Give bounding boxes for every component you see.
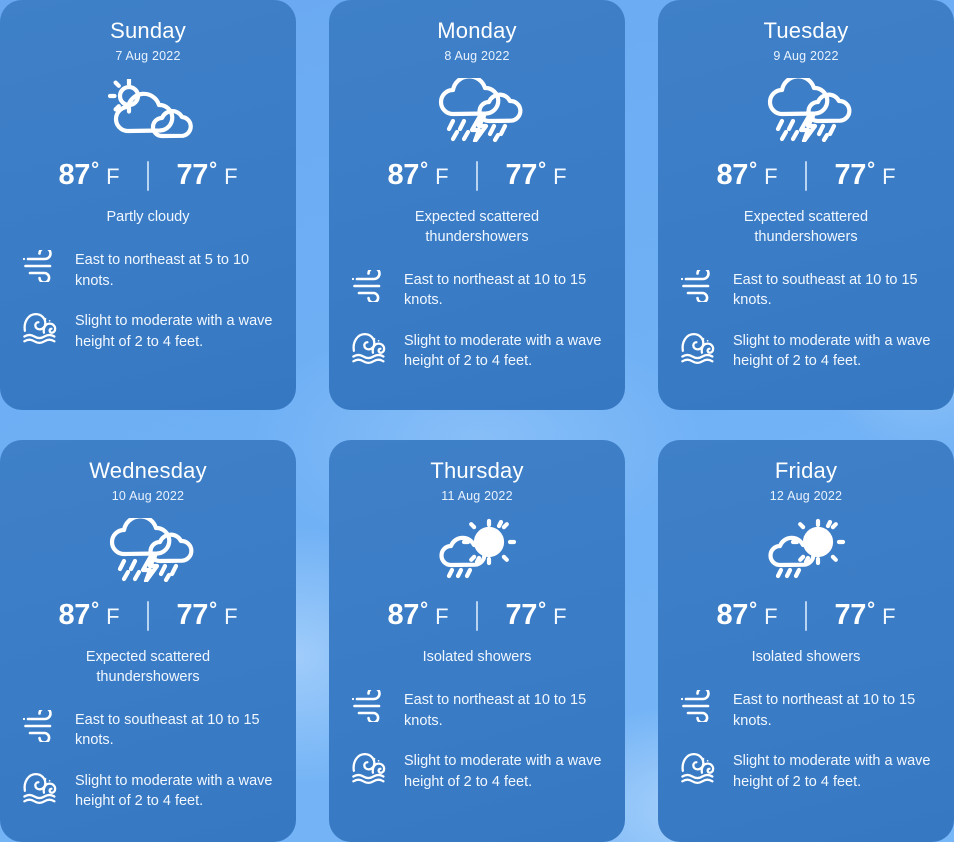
low-temp-value: 77 — [176, 159, 208, 192]
sun-showers-icon — [760, 519, 852, 581]
high-temp-unit: F — [435, 604, 448, 630]
low-temp-unit: F — [882, 604, 895, 630]
thunderstorm-icon — [431, 79, 523, 141]
forecast-card[interactable]: Monday 8 Aug 2022 87°F 77°F — [329, 0, 625, 410]
degree-symbol: ° — [749, 599, 757, 622]
high-temp-value: 87 — [716, 599, 748, 632]
wind-icon — [22, 709, 62, 743]
day-name: Thursday — [430, 458, 523, 484]
high-temp-unit: F — [106, 604, 119, 630]
wave-detail-row: Slight to moderate with a wave height of… — [351, 749, 603, 792]
low-temp-value: 77 — [834, 159, 866, 192]
detail-list: East to southeast at 10 to 15 knots. Sli… — [680, 268, 932, 372]
sun-showers-icon — [431, 519, 523, 581]
temperature-row: 87°F 77°F — [22, 159, 274, 192]
detail-list: East to northeast at 5 to 10 knots. Slig… — [22, 248, 274, 352]
wave-detail-row: Slight to moderate with a wave height of… — [680, 329, 932, 372]
forecast-card[interactable]: Tuesday 9 Aug 2022 87°F 77°F — [658, 0, 954, 410]
degree-symbol: ° — [420, 159, 428, 182]
wind-detail-row: East to northeast at 10 to 15 knots. — [351, 688, 603, 731]
high-temperature: 87°F — [691, 599, 803, 632]
high-temp-unit: F — [764, 164, 777, 190]
temperature-row: 87°F 77°F — [351, 159, 603, 192]
degree-symbol: ° — [867, 159, 875, 182]
wave-text: Slight to moderate with a wave height of… — [75, 309, 274, 352]
low-temp-value: 77 — [176, 599, 208, 632]
high-temperature: 87°F — [362, 599, 474, 632]
wave-icon — [22, 770, 62, 804]
temperature-row: 87°F 77°F — [680, 159, 932, 192]
low-temperature: 77°F — [480, 159, 592, 192]
wave-text: Slight to moderate with a wave height of… — [404, 329, 603, 372]
wind-detail-row: East to northeast at 10 to 15 knots. — [680, 688, 932, 731]
partly-cloudy-icon — [102, 79, 194, 141]
wind-text: East to northeast at 10 to 15 knots. — [404, 268, 603, 311]
wave-detail-row: Slight to moderate with a wave height of… — [22, 309, 274, 352]
wind-icon — [680, 269, 720, 303]
wave-text: Slight to moderate with a wave height of… — [733, 329, 932, 372]
temperature-divider — [147, 601, 149, 631]
day-date: 8 Aug 2022 — [444, 49, 509, 63]
low-temp-unit: F — [553, 164, 566, 190]
thunderstorm-icon — [760, 79, 852, 141]
wave-text: Slight to moderate with a wave height of… — [404, 749, 603, 792]
high-temperature: 87°F — [691, 159, 803, 192]
high-temp-value: 87 — [387, 159, 419, 192]
detail-list: East to southeast at 10 to 15 knots. Sli… — [22, 708, 274, 812]
detail-list: East to northeast at 10 to 15 knots. Sli… — [680, 688, 932, 792]
high-temp-value: 87 — [387, 599, 419, 632]
day-name: Sunday — [110, 18, 186, 44]
day-name: Friday — [775, 458, 837, 484]
condition-text: Partly cloudy — [106, 208, 189, 228]
forecast-card[interactable]: Sunday 7 Aug 2022 87°F 77°F — [0, 0, 296, 410]
temperature-divider — [805, 161, 807, 191]
high-temp-unit: F — [435, 164, 448, 190]
degree-symbol: ° — [209, 599, 217, 622]
temperature-divider — [805, 601, 807, 631]
wind-detail-row: East to northeast at 5 to 10 knots. — [22, 248, 274, 291]
high-temp-value: 87 — [58, 159, 90, 192]
low-temp-unit: F — [224, 164, 237, 190]
low-temp-value: 77 — [505, 159, 537, 192]
high-temp-value: 87 — [58, 599, 90, 632]
condition-text: Isolated showers — [752, 648, 861, 668]
wind-text: East to northeast at 10 to 15 knots. — [733, 688, 932, 731]
temperature-row: 87°F 77°F — [351, 599, 603, 632]
wind-text: East to northeast at 5 to 10 knots. — [75, 248, 274, 291]
wind-text: East to southeast at 10 to 15 knots. — [733, 268, 932, 311]
day-name: Monday — [437, 18, 516, 44]
wave-icon — [680, 750, 720, 784]
wave-text: Slight to moderate with a wave height of… — [733, 749, 932, 792]
forecast-card[interactable]: Friday 12 Aug 2022 — [658, 440, 954, 842]
degree-symbol: ° — [867, 599, 875, 622]
wave-icon — [351, 330, 391, 364]
wind-icon — [351, 689, 391, 723]
degree-symbol: ° — [538, 159, 546, 182]
day-date: 9 Aug 2022 — [773, 49, 838, 63]
high-temp-unit: F — [106, 164, 119, 190]
day-date: 12 Aug 2022 — [770, 489, 842, 503]
temperature-divider — [476, 161, 478, 191]
high-temperature: 87°F — [33, 159, 145, 192]
forecast-grid: Sunday 7 Aug 2022 87°F 77°F — [0, 0, 954, 842]
low-temperature: 77°F — [151, 599, 263, 632]
day-date: 11 Aug 2022 — [441, 489, 512, 503]
temperature-divider — [476, 601, 478, 631]
wave-detail-row: Slight to moderate with a wave height of… — [22, 769, 274, 812]
condition-text: Isolated showers — [423, 648, 532, 668]
temperature-row: 87°F 77°F — [22, 599, 274, 632]
low-temperature: 77°F — [809, 159, 921, 192]
high-temperature: 87°F — [33, 599, 145, 632]
condition-text: Expected scattered thundershowers — [699, 208, 914, 247]
day-name: Wednesday — [89, 458, 207, 484]
degree-symbol: ° — [91, 599, 99, 622]
wind-detail-row: East to southeast at 10 to 15 knots. — [680, 268, 932, 311]
degree-symbol: ° — [91, 159, 99, 182]
wave-icon — [22, 310, 62, 344]
condition-text: Expected scattered thundershowers — [41, 648, 256, 687]
wave-detail-row: Slight to moderate with a wave height of… — [351, 329, 603, 372]
detail-list: East to northeast at 10 to 15 knots. Sli… — [351, 688, 603, 792]
wave-icon — [351, 750, 391, 784]
wind-detail-row: East to northeast at 10 to 15 knots. — [351, 268, 603, 311]
low-temp-unit: F — [553, 604, 566, 630]
degree-symbol: ° — [538, 599, 546, 622]
day-date: 7 Aug 2022 — [115, 49, 180, 63]
wind-icon — [351, 269, 391, 303]
wave-text: Slight to moderate with a wave height of… — [75, 769, 274, 812]
low-temp-value: 77 — [834, 599, 866, 632]
wind-text: East to southeast at 10 to 15 knots. — [75, 708, 274, 751]
detail-list: East to northeast at 10 to 15 knots. Sli… — [351, 268, 603, 372]
condition-text: Expected scattered thundershowers — [370, 208, 585, 247]
high-temperature: 87°F — [362, 159, 474, 192]
day-date: 10 Aug 2022 — [112, 489, 184, 503]
wind-text: East to northeast at 10 to 15 knots. — [404, 688, 603, 731]
low-temp-unit: F — [882, 164, 895, 190]
low-temperature: 77°F — [809, 599, 921, 632]
low-temperature: 77°F — [480, 599, 592, 632]
low-temp-unit: F — [224, 604, 237, 630]
degree-symbol: ° — [420, 599, 428, 622]
temperature-divider — [147, 161, 149, 191]
wind-icon — [22, 249, 62, 283]
thunderstorm-icon — [102, 519, 194, 581]
low-temp-value: 77 — [505, 599, 537, 632]
degree-symbol: ° — [749, 159, 757, 182]
wave-icon — [680, 330, 720, 364]
wind-detail-row: East to southeast at 10 to 15 knots. — [22, 708, 274, 751]
day-name: Tuesday — [764, 18, 849, 44]
wave-detail-row: Slight to moderate with a wave height of… — [680, 749, 932, 792]
temperature-row: 87°F 77°F — [680, 599, 932, 632]
forecast-card[interactable]: Wednesday 10 Aug 2022 87°F 77°F — [0, 440, 296, 842]
high-temp-unit: F — [764, 604, 777, 630]
low-temperature: 77°F — [151, 159, 263, 192]
wind-icon — [680, 689, 720, 723]
forecast-card[interactable]: Thursday 11 Aug 2022 — [329, 440, 625, 842]
degree-symbol: ° — [209, 159, 217, 182]
high-temp-value: 87 — [716, 159, 748, 192]
